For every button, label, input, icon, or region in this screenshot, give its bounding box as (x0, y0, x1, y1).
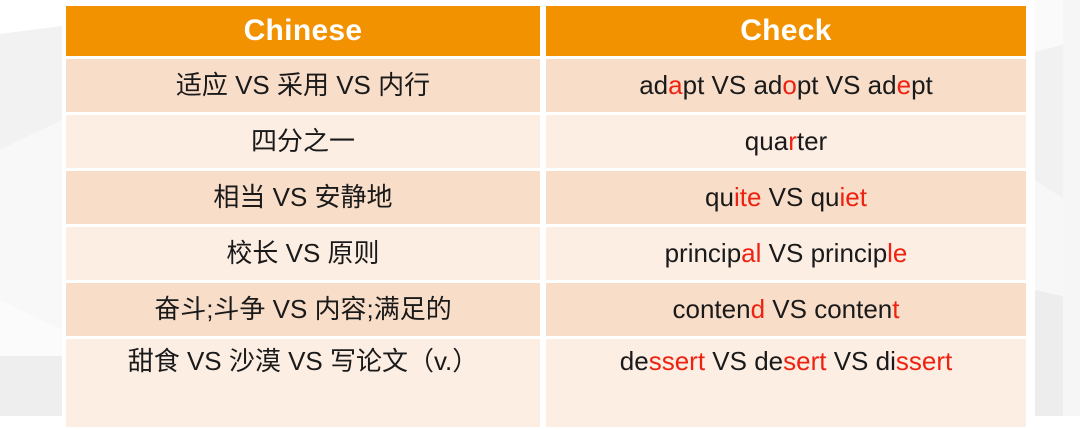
table-body: 适应 VS 采用 VS 内行adapt VS adopt VS adept四分之… (66, 59, 1026, 430)
decor-shape-right-bottom (1035, 290, 1080, 416)
plain-letters: VS (761, 182, 810, 212)
decor-right-edge-band (1063, 0, 1080, 416)
plain-letters: conten (673, 294, 751, 324)
decor-shape-top-left (0, 26, 62, 150)
highlighted-letters: ssert (649, 346, 705, 376)
decor-shape-left-mid (0, 120, 62, 330)
plain-letters: pt (683, 70, 712, 100)
plain-letters: VS (826, 70, 861, 100)
cell-check: quarter (546, 115, 1026, 171)
cell-chinese: 校长 VS 原则 (66, 227, 546, 283)
plain-letters: qua (745, 126, 788, 156)
plain-letters: princip (811, 238, 888, 268)
cell-chinese: 奋斗;斗争 VS 内容;满足的 (66, 283, 546, 339)
plain-letters: de (620, 346, 649, 376)
cell-check: dessert VS desert VS dissert (546, 339, 1026, 430)
plain-letters: qu (811, 182, 840, 212)
cell-chinese: 四分之一 (66, 115, 546, 171)
cell-chinese: 适应 VS 采用 VS 内行 (66, 59, 546, 115)
decor-shape-right-mid (1035, 40, 1080, 210)
cell-chinese: 甜食 VS 沙漠 VS 写论文（v.） (66, 339, 546, 430)
table-header: Chinese Check (66, 6, 1026, 59)
table-row: 校长 VS 原则principal VS principle (66, 227, 1026, 283)
decor-shape-right-top (1035, 0, 1080, 52)
highlighted-letters: al (741, 238, 761, 268)
column-header-check: Check (546, 6, 1026, 59)
highlighted-letters: ssert (896, 346, 952, 376)
highlighted-letters: iet (839, 182, 866, 212)
table-row: 四分之一quarter (66, 115, 1026, 171)
plain-letters: VS (826, 346, 875, 376)
plain-letters: pt (911, 70, 933, 100)
plain-letters: ad (639, 70, 668, 100)
plain-letters: VS (705, 346, 754, 376)
plain-letters: de (754, 346, 783, 376)
highlighted-letters: ite (734, 182, 761, 212)
highlighted-letters: sert (783, 346, 826, 376)
highlighted-letters: o (782, 70, 796, 100)
cell-check: principal VS principle (546, 227, 1026, 283)
plain-letters: di (876, 346, 896, 376)
highlighted-letters: a (668, 70, 682, 100)
plain-letters: conten (814, 294, 892, 324)
decor-shape-bottom-left (0, 338, 62, 416)
table-row: 奋斗;斗争 VS 内容;满足的contend VS content (66, 283, 1026, 339)
plain-letters: pt (797, 70, 826, 100)
plain-letters: qu (705, 182, 734, 212)
table-row: 相当 VS 安静地quite VS quiet (66, 171, 1026, 227)
cell-check: adapt VS adopt VS adept (546, 59, 1026, 115)
plain-letters: ad (860, 70, 896, 100)
table-header-row: Chinese Check (66, 6, 1026, 59)
plain-letters: ad (746, 70, 782, 100)
plain-letters: VS (765, 294, 814, 324)
cell-check: quite VS quiet (546, 171, 1026, 227)
table-row: 适应 VS 采用 VS 内行adapt VS adopt VS adept (66, 59, 1026, 115)
plain-letters: VS (761, 238, 810, 268)
plain-letters: ter (797, 126, 827, 156)
decor-shape-right-lower (1035, 180, 1080, 300)
table-row: 甜食 VS 沙漠 VS 写论文（v.）dessert VS desert VS … (66, 339, 1026, 430)
decor-shape-bottom-left-2 (0, 300, 62, 356)
highlighted-letters: d (751, 294, 765, 324)
cell-chinese: 相当 VS 安静地 (66, 171, 546, 227)
highlighted-letters: le (887, 238, 907, 268)
highlighted-letters: t (892, 294, 899, 324)
plain-letters: VS (712, 70, 747, 100)
cell-check: contend VS content (546, 283, 1026, 339)
column-header-chinese: Chinese (66, 6, 546, 59)
vocabulary-table: Chinese Check 适应 VS 采用 VS 内行adapt VS ado… (66, 6, 1026, 430)
highlighted-letters: e (897, 70, 911, 100)
plain-letters: princip (665, 238, 742, 268)
highlighted-letters: r (788, 126, 797, 156)
